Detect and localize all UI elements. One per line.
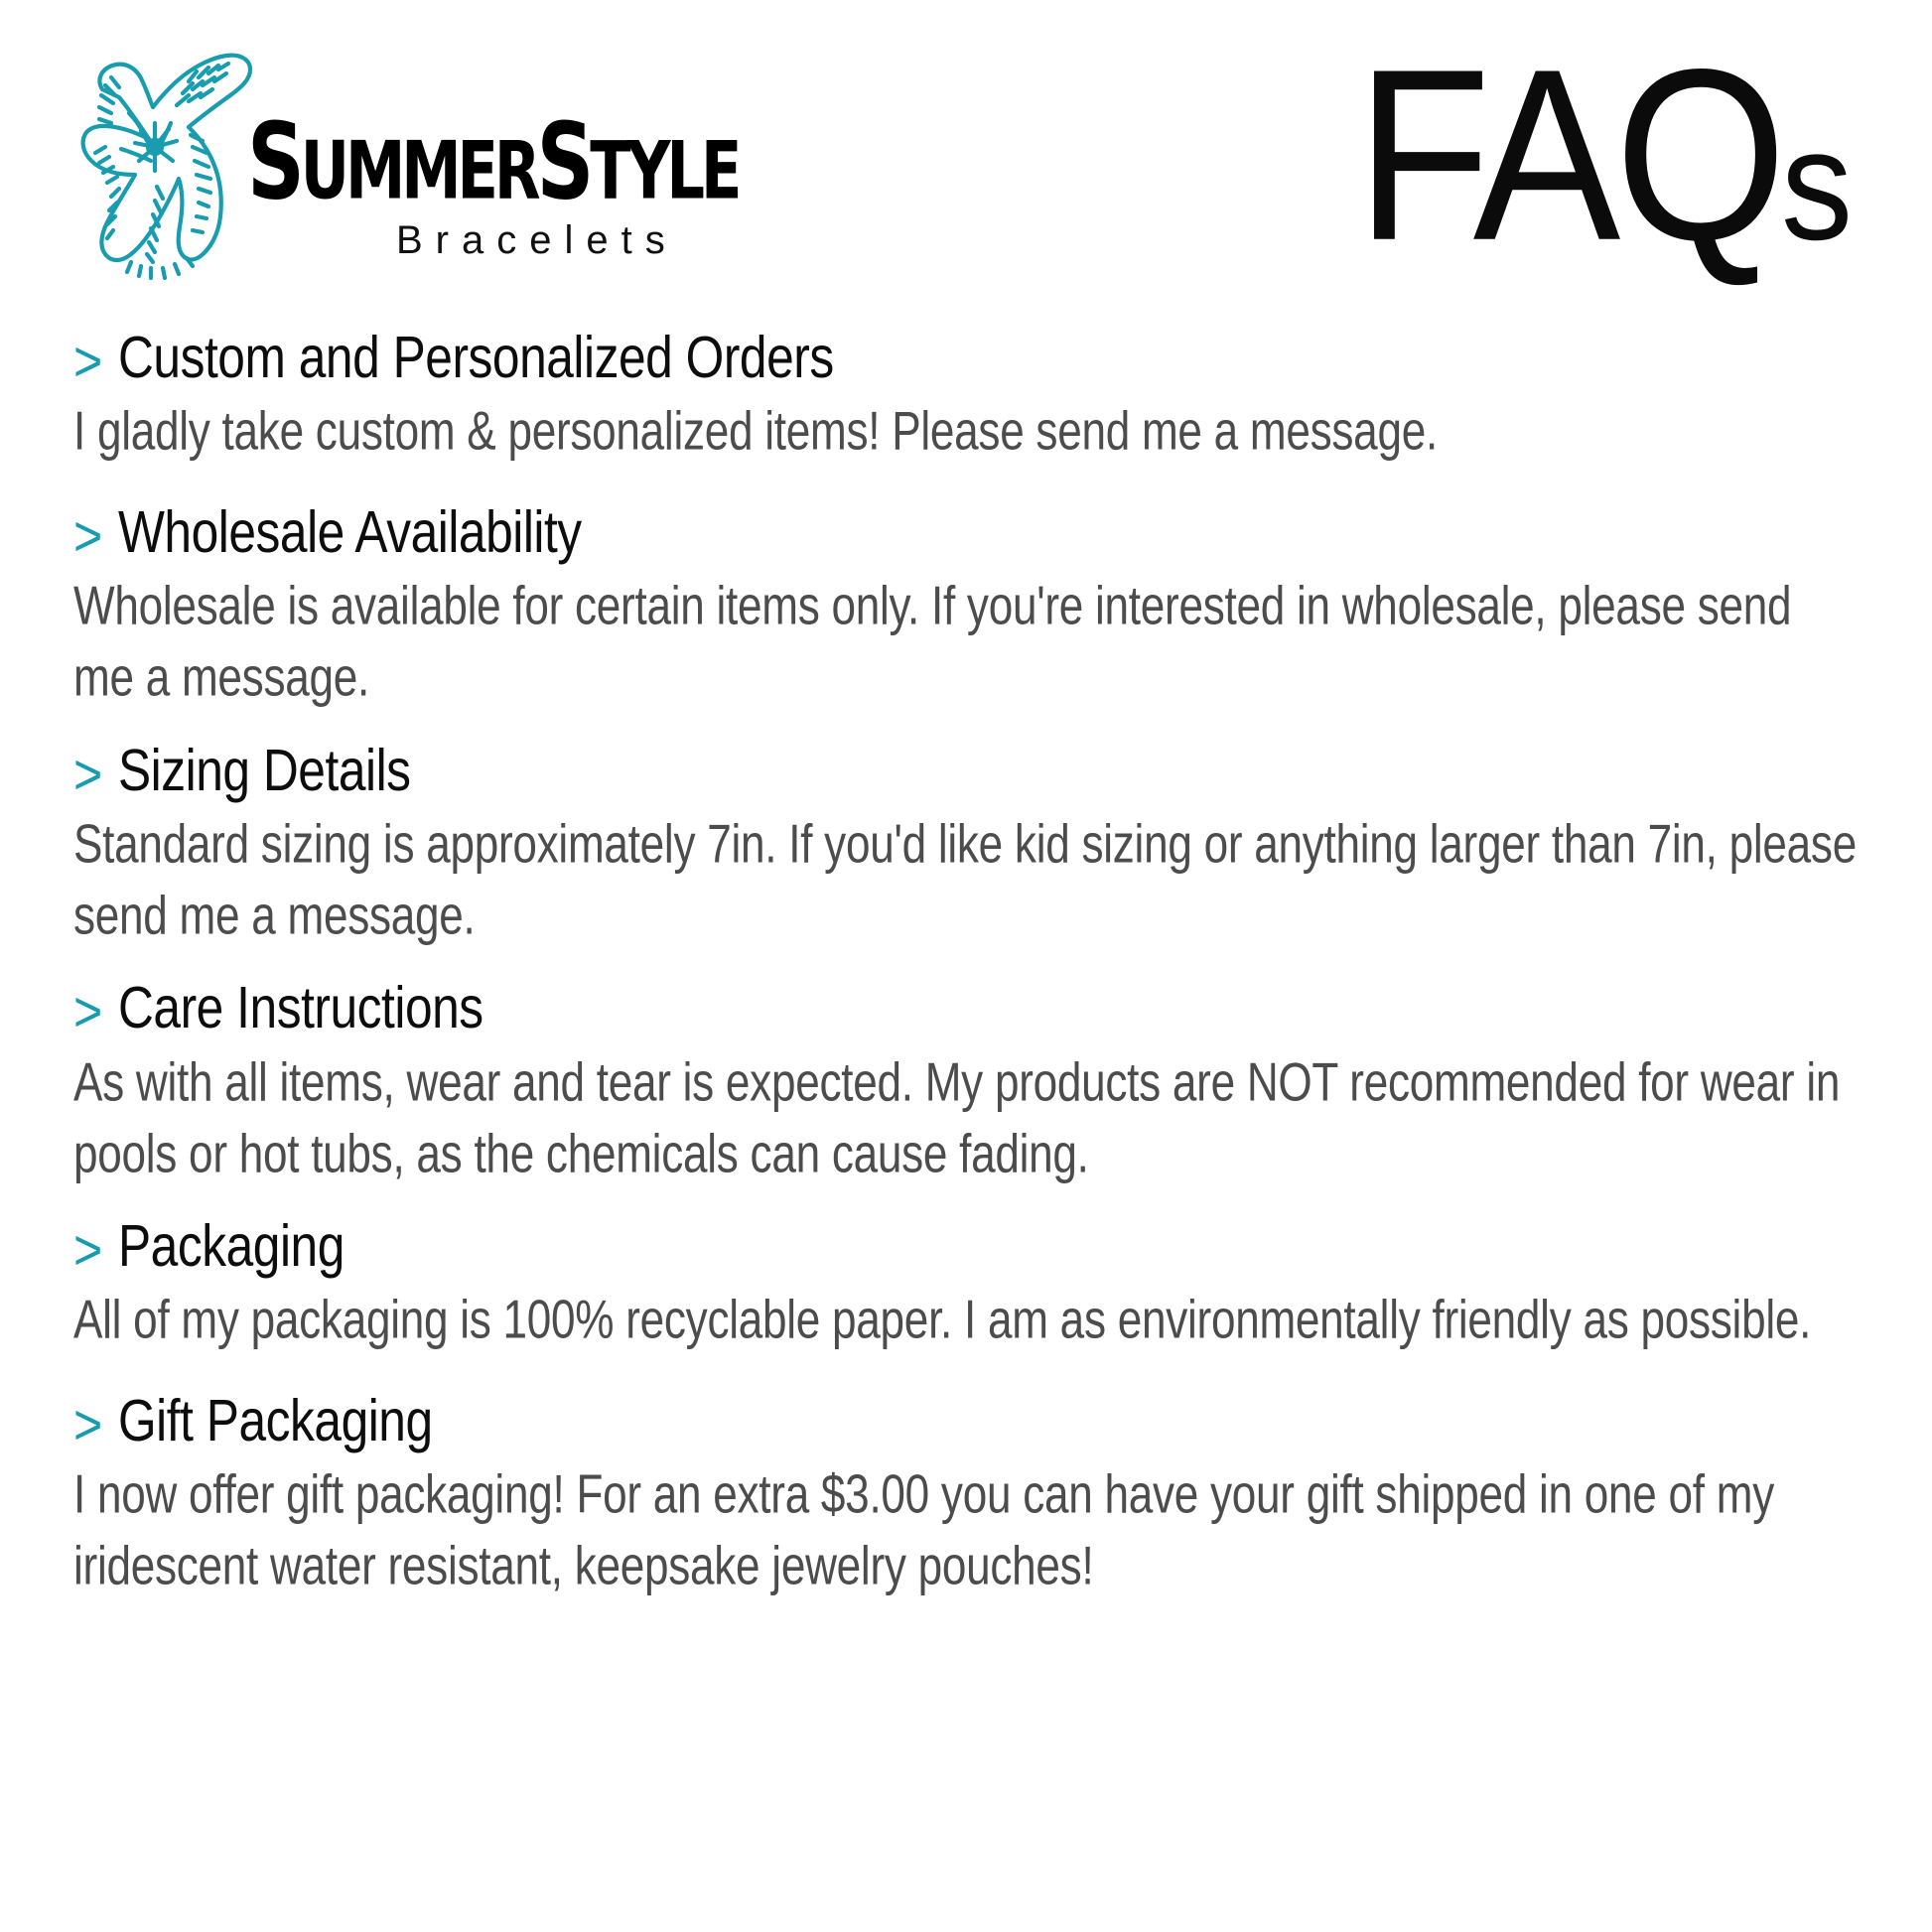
faq-heading-text: Sizing Details	[118, 739, 411, 802]
starfish-icon	[71, 28, 255, 311]
faq-item-sizing: > Sizing Details Standard sizing is appr…	[73, 745, 1861, 937]
page-header: SUMMERSTYLE Bracelets FAQs	[0, 0, 1932, 328]
faq-item-gift-packaging: > Gift Packaging I now offer gift packag…	[73, 1395, 1861, 1587]
chevron-right-icon: >	[73, 507, 102, 565]
faq-heading-row: > Care Instructions	[73, 982, 1861, 1039]
faq-heading-row: > Packaging	[73, 1220, 1861, 1278]
faq-item-wholesale: > Wholesale Availability Wholesale is av…	[73, 506, 1861, 699]
faq-heading-row: > Gift Packaging	[73, 1395, 1861, 1452]
chevron-right-icon: >	[73, 746, 102, 803]
faq-heading-text: Care Instructions	[118, 977, 483, 1040]
chevron-right-icon: >	[73, 984, 102, 1041]
faq-heading-text: Packaging	[118, 1214, 345, 1278]
faq-heading-text: Custom and Personalized Orders	[118, 326, 834, 389]
faq-page: SUMMERSTYLE Bracelets FAQs > Custom and …	[0, 0, 1932, 1932]
faq-heading-row: > Custom and Personalized Orders	[73, 332, 1861, 389]
faq-item-care: > Care Instructions As with all items, w…	[73, 982, 1861, 1174]
brand-lockup: SUMMERSTYLE Bracelets	[71, 28, 846, 311]
faq-answer-text: Wholesale is available for certain items…	[73, 572, 1859, 714]
faq-list: > Custom and Personalized Orders I gladl…	[0, 332, 1932, 1587]
faq-heading-row: > Wholesale Availability	[73, 506, 1861, 564]
chevron-right-icon: >	[73, 1221, 102, 1279]
faq-answer-text: I now offer gift packaging! For an extra…	[73, 1460, 1859, 1602]
brand-name-s1: S	[247, 101, 301, 223]
faq-answer-text: Standard sizing is approximately 7in. If…	[73, 810, 1859, 952]
faq-heading-text: Gift Packaging	[118, 1389, 433, 1452]
faq-heading-row: > Sizing Details	[73, 745, 1861, 802]
chevron-right-icon: >	[73, 1396, 102, 1453]
faq-item-custom-orders: > Custom and Personalized Orders I gladl…	[73, 332, 1861, 461]
chevron-right-icon: >	[73, 333, 102, 390]
page-title-tail: s	[1781, 96, 1851, 273]
page-title-main: FAQ	[1356, 19, 1781, 292]
brand-subtitle: Bracelets	[396, 218, 846, 263]
faq-answer-text: As with all items, wear and tear is expe…	[73, 1048, 1859, 1190]
brand-name: SUMMERSTYLE	[247, 115, 738, 209]
page-title: FAQs	[1356, 34, 1851, 278]
brand-name-s2: S	[537, 101, 591, 223]
brand-name-ummer: UMMER	[301, 125, 537, 217]
faq-item-packaging: > Packaging All of my packaging is 100% …	[73, 1220, 1861, 1349]
faq-heading-text: Wholesale Availability	[118, 500, 582, 564]
faq-answer-text: All of my packaging is 100% recyclable p…	[73, 1286, 1859, 1356]
faq-answer-text: I gladly take custom & personalized item…	[73, 397, 1859, 468]
brand-name-tyle: TYLE	[590, 125, 738, 217]
brand-wordmark: SUMMERSTYLE Bracelets	[247, 28, 846, 263]
